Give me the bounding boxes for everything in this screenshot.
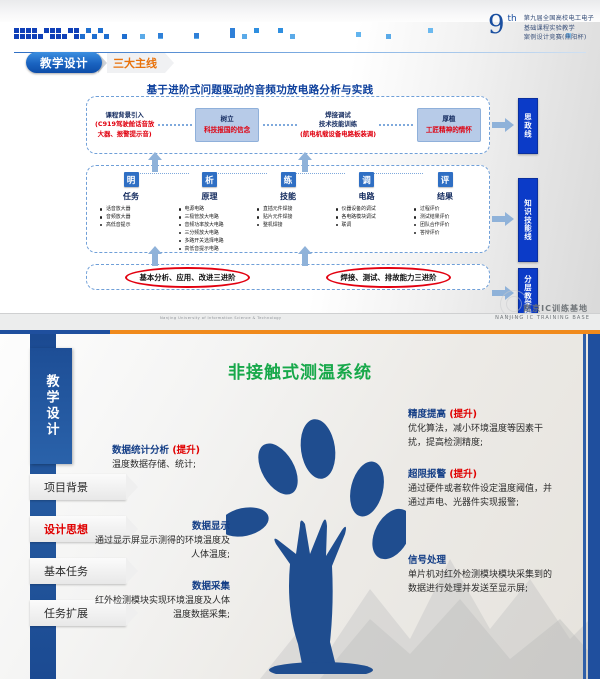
logo-dot [122,34,127,39]
row2-column-3: 调电路仪器设备的调试各电路模块调试联调 [331,172,403,248]
layered-teaching-row: 基本分析、应用、改进三进阶 焊接、测试、排故能力三进阶 [86,264,490,290]
row1-dots-1 [263,124,297,126]
logo-dot [74,34,79,39]
row1-item-1-l2: 科技报国的信念 [204,126,250,134]
side-label-ideology: 思政线 [518,98,538,154]
footer-cn: 南京IC训练基地 [523,303,588,314]
row2-badge-0: 明 [124,172,139,187]
slide-teaching-design-three-lines: 9 th 第九届全国高校电工电子 基础课程实验教学 案例设计竞赛(鼎阳杯) 教学… [0,0,600,331]
edition-number: 9 [488,12,505,38]
footer-en-small: Nanjing University of Information Scienc… [160,316,281,320]
logo-dot [56,34,61,39]
row2-list-item: 多路开关选择电路 [178,238,246,246]
row1-dots-2 [379,124,413,126]
row1-item-0-l2: (C919驾驶舱话音放 [95,120,154,130]
logo-dot [86,28,91,33]
row2-head-0: 任务 [95,191,167,202]
side-label-knowledge: 知识技能线 [518,178,538,262]
row1-item-2-l1: 焊接调试 [300,111,376,121]
block-data-display-head: 数据显示 [90,518,230,532]
block-data-statistics: 数据统计分析 (提升) 温度数据存储、统计; [112,442,240,473]
logo-dot [74,28,79,33]
row2-badge-2: 练 [281,172,296,187]
event-line-1: 第九届全国高校电工电子 [524,14,594,24]
right-arrow-1-icon [492,118,514,132]
slide-non-contact-temperature-system: 教学设计 项目背景 设计思想 基本任务 任务扩展 非接触式测温系统 [0,334,600,679]
block-over-limit-alarm-title: 超限报警 [408,469,446,480]
logo-dot [92,34,97,39]
logo-dot [98,28,103,33]
block-over-limit-alarm-tag: (提升) [449,469,477,480]
block-over-limit-alarm-body: 通过硬件或者软件设定温度阈值，并通过声电、光器件实现报警; [408,483,558,510]
block-accuracy-improvement-head: 精度提高 (提升) [408,406,558,420]
presentation-page: 9 th 第九届全国高校电工电子 基础课程实验教学 案例设计竞赛(鼎阳杯) 教学… [0,0,600,679]
row1-item-0-l1: 课程背景引入 [95,111,154,121]
logo-dot [14,34,19,39]
row2-list-item: 答辩评价 [413,230,481,238]
logo-dot [80,34,85,39]
logo-dot [20,28,25,33]
row2-head-1: 原理 [174,191,246,202]
row1-item-0: 课程背景引入 (C919驾驶舱话音放 大器、报警提示音) [95,111,154,140]
row2-list-0: 话音放大器音频放大器高低音提示 [99,206,167,230]
row1-item-2: 焊接调试 技术技能训练 (航电机载设备电路板装调) [300,111,376,140]
row2-list-item: 电源电路 [178,206,246,214]
row2-list-item: 三极管放大电路 [178,214,246,222]
block-signal-processing: 信号处理 单片机对红外检测模块模块采集到的数据进行处理并发送至显示屏; [408,552,560,596]
knowledge-skill-row: 明任务话音放大器音频放大器高低音提示析原理电源电路三极管放大电路音频功率放大电路… [86,165,490,253]
row2-column-2: 练技能直插元件焊接贴片元件焊接整机焊接 [252,172,324,248]
row1-item-2-l2: 技术技能训练 [300,120,376,130]
logo-dot [254,28,259,33]
row2-column-0: 明任务话音放大器音频放大器高低音提示 [95,172,167,248]
logo-dot [32,34,37,39]
block-over-limit-alarm: 超限报警 (提升) 通过硬件或者软件设定温度阈值，并通过声电、光器件实现报警; [408,466,558,510]
event-line-2: 基础课程实验教学 [524,24,594,34]
tree-svg [226,394,406,674]
slide1-footer: Nanjing University of Information Scienc… [0,313,600,330]
row2-list-item: 高低音提示电路 [178,246,246,254]
logo-dot [44,28,49,33]
logo-dot [242,34,247,39]
right-blue-bar [588,334,600,679]
logo-dot [386,34,391,39]
logo-dot [14,28,19,33]
logo-dot [50,34,55,39]
logo-dot [56,28,61,33]
block-data-acquisition-body: 红外检测模块实现环境温度及人体温度数据采集; [90,595,230,622]
block-accuracy-improvement: 精度提高 (提升) 优化算法，减小环境温度等因素干扰，提高检测精度; [408,406,558,450]
row2-badge-3: 调 [359,172,374,187]
logo-dot [158,33,163,38]
row1-item-0-l3: 大器、报警提示音) [95,130,154,140]
row2-list-item: 高低音提示 [99,222,167,230]
row2-list-item: 话音放大器 [99,206,167,214]
row2-badge-1: 析 [202,172,217,187]
right-arrow-2-icon [492,212,514,226]
block-signal-processing-head: 信号处理 [408,552,560,566]
logo-dot [32,28,37,33]
logo-dot [62,34,67,39]
block-accuracy-improvement-title: 精度提高 [408,409,446,420]
row2-list-item: 直插元件焊接 [256,206,324,214]
row2-list-item: 测试结果评价 [413,214,481,222]
row2-list-4: 过程评价测试结果评价团队合作评价答辩评价 [413,206,481,238]
row2-list-item: 三分频放大电路 [178,230,246,238]
logo-dot [230,33,235,38]
row2-list-item: 音频功率放大电路 [178,222,246,230]
row1-dots-0 [158,124,192,126]
row2-head-2: 技能 [252,191,324,202]
block-data-statistics-body: 温度数据存储、统计; [112,459,240,473]
edition-suffix: th [508,14,517,24]
row1-item-3-l1: 厚植 [442,115,455,123]
logo-dot [428,28,433,33]
row2-list-item: 过程评价 [413,206,481,214]
slide2-title: 非接触式测温系统 [0,358,600,383]
footer-en: NANJING IC TRAINING BASE [495,315,590,321]
slide1-title: 基于进阶式问题驱动的音频功放电路分析与实践 [0,82,520,97]
breadcrumb: 教学设计 三大主线 [26,52,174,73]
slide1-diagram: 课程背景引入 (C919驾驶舱话音放 大器、报警提示音) 树立 科技报国的信念 … [86,96,490,290]
row3-oval-1: 焊接、测试、排故能力三进阶 [326,268,450,287]
row2-head-3: 电路 [331,191,403,202]
logo-dot [68,28,73,33]
row2-list-item: 音频放大器 [99,214,167,222]
logo-dot [290,34,295,39]
block-data-statistics-tag: (提升) [172,445,200,456]
block-accuracy-improvement-tag: (提升) [449,409,477,420]
ideology-row: 课程背景引入 (C919驾驶舱话音放 大器、报警提示音) 树立 科技报国的信念 … [86,96,490,154]
tree-illustration-icon [226,394,406,674]
logo-dot [26,28,31,33]
block-data-statistics-head: 数据统计分析 (提升) [112,442,240,456]
event-title-lines: 第九届全国高校电工电子 基础课程实验教学 案例设计竞赛(鼎阳杯) [524,14,594,43]
block-accuracy-improvement-body: 优化算法，减小环境温度等因素干扰，提高检测精度; [408,423,558,450]
row1-item-1: 树立 科技报国的信念 [195,108,259,141]
row2-list-item: 仪器设备的调试 [335,206,403,214]
row2-list-2: 直插元件焊接贴片元件焊接整机焊接 [256,206,324,230]
up-arrow-2-icon [298,246,312,266]
row2-list-1: 电源电路三极管放大电路音频功率放大电路三分频放大电路多路开关选择电路高低音提示电… [178,206,246,254]
logo-dot [104,34,109,39]
logo-dot [140,34,145,39]
logo-dot [278,28,283,33]
row2-list-item: 贴片元件焊接 [256,214,324,222]
logo-dot [194,33,199,38]
breadcrumb-chevron-2-icon [165,53,174,73]
block-data-display: 数据显示 通过显示屏显示测得的环境温度及人体温度; [90,518,230,562]
block-signal-processing-body: 单片机对红外检测模块模块采集到的数据进行处理并发送至显示屏; [408,569,560,596]
right-blue-line [583,334,586,679]
row2-list-item: 团队合作评价 [413,222,481,230]
sidebar-item-project-background[interactable]: 项目背景 [30,474,126,500]
up-arrow-1-icon [148,246,162,266]
logo-dot [356,32,361,37]
breadcrumb-primary[interactable]: 教学设计 [26,52,102,73]
row2-column-1: 析原理电源电路三极管放大电路音频功率放大电路三分频放大电路多路开关选择电路高低音… [174,172,246,248]
row2-list-item: 各电路模块调试 [335,214,403,222]
row1-item-2-l3: (航电机载设备电路板装调) [300,130,376,140]
logo-dot [50,28,55,33]
up-arrow-3-icon [148,152,162,172]
row2-badge-4: 评 [438,172,453,187]
up-arrow-4-icon [298,152,312,172]
block-data-acquisition: 数据采集 红外检测模块实现环境温度及人体温度数据采集; [90,578,230,622]
block-data-acquisition-head: 数据采集 [90,578,230,592]
row3-oval-0: 基本分析、应用、改进三进阶 [125,268,249,287]
row1-item-3: 厚植 工匠精神的情怀 [417,108,481,141]
row2-list-item: 联调 [335,222,403,230]
row2-column-4: 评结果过程评价测试结果评价团队合作评价答辩评价 [409,172,481,248]
logo-dot [38,34,43,39]
row1-item-1-l1: 树立 [221,115,234,123]
row2-head-4: 结果 [409,191,481,202]
breadcrumb-secondary[interactable]: 三大主线 [107,53,165,73]
row2-list-3: 仪器设备的调试各电路模块调试联调 [335,206,403,230]
row2-list-item: 整机焊接 [256,222,324,230]
block-over-limit-alarm-head: 超限报警 (提升) [408,466,558,480]
block-data-display-body: 通过显示屏显示测得的环境温度及人体温度; [90,535,230,562]
event-line-3: 案例设计竞赛(鼎阳杯) [524,33,594,43]
event-badge: 9 th 第九届全国高校电工电子 基础课程实验教学 案例设计竞赛(鼎阳杯) [488,12,594,43]
logo-dot [20,34,25,39]
block-data-statistics-title: 数据统计分析 [112,445,169,456]
row1-item-3-l2: 工匠精神的情怀 [426,126,472,134]
logo-dot [26,34,31,39]
dot-matrix-logo-icon [14,28,344,44]
